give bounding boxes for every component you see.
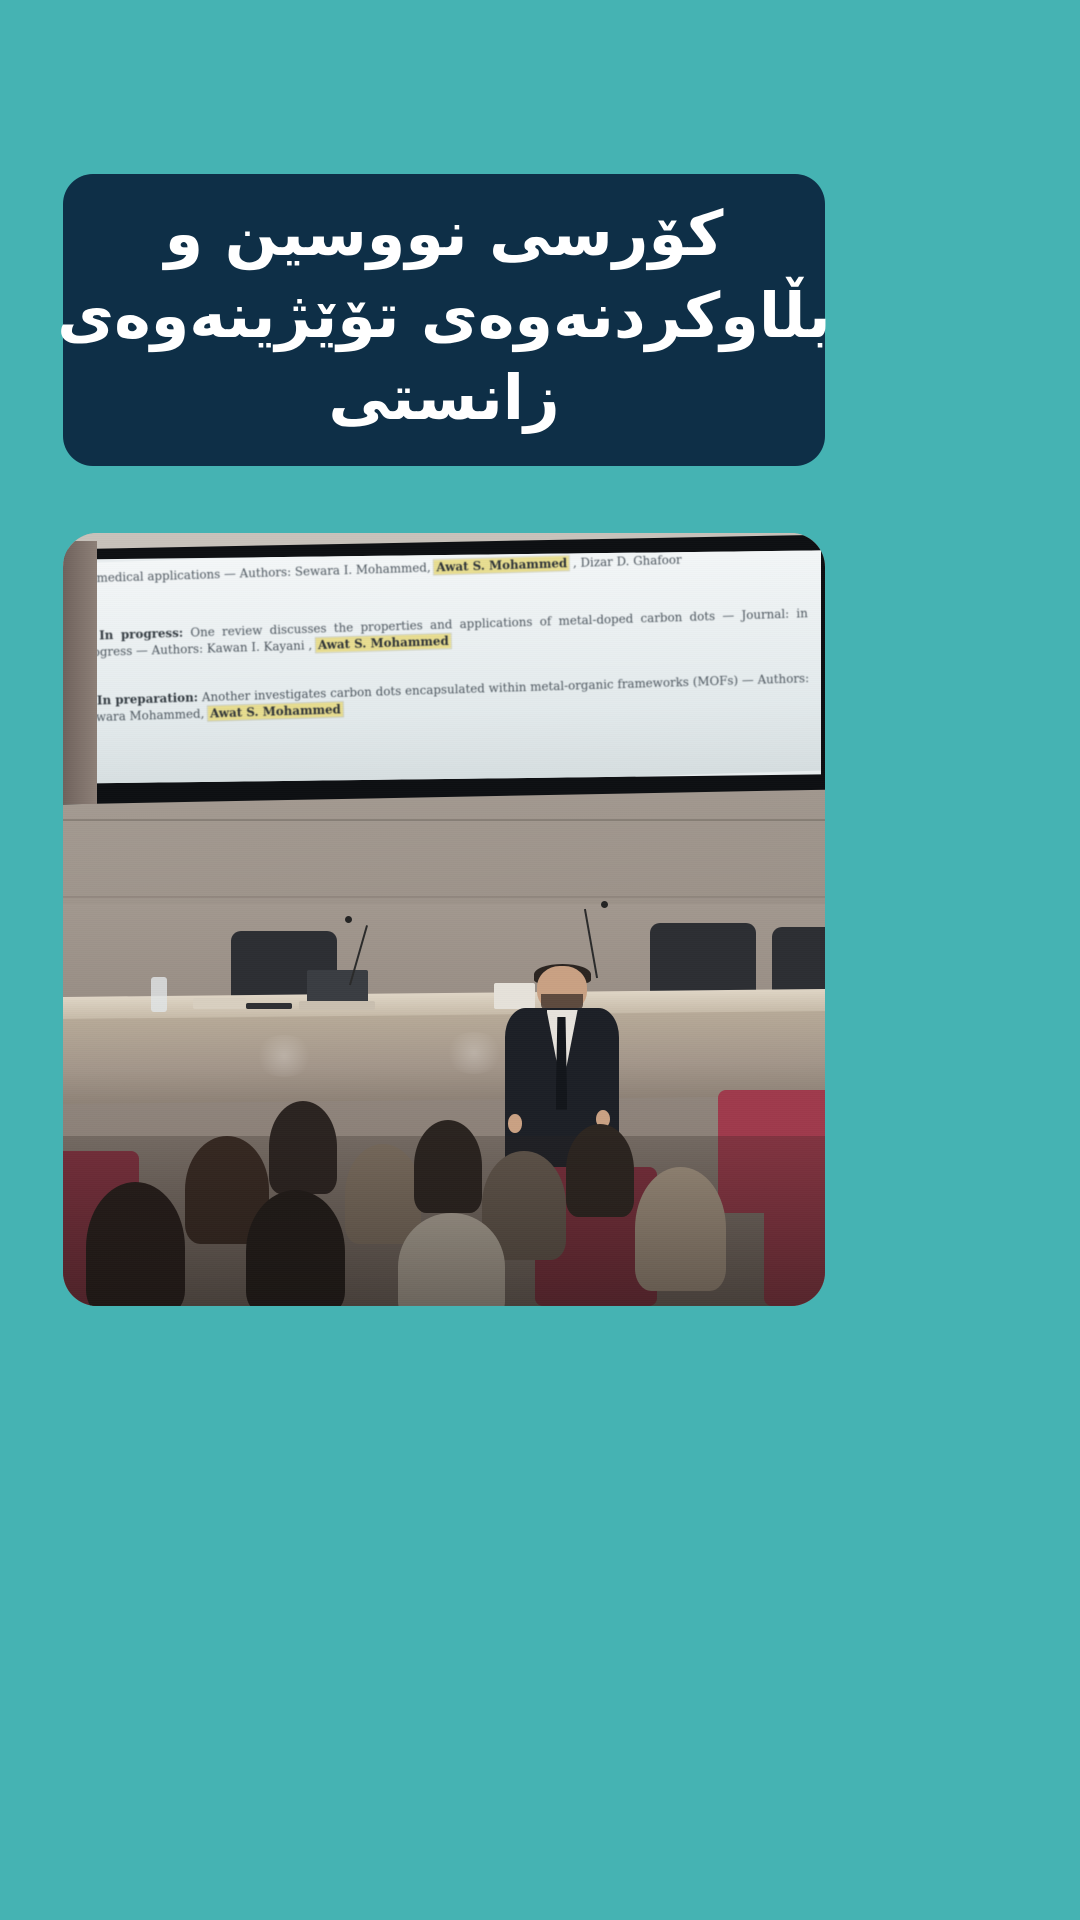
slide-p1-author-1: Sewara I. Mohammed,	[294, 560, 430, 579]
presentation-slide: biomedical applications — Authors: Sewar…	[63, 550, 820, 784]
presenter-hand-left	[508, 1114, 522, 1133]
wall-panel-line-2	[63, 896, 825, 898]
slide-p2-highlighted-author: Awat S. Mohammed	[315, 634, 450, 653]
title-line-1: کۆرسی نووسین و	[165, 193, 724, 275]
panel-chair-2	[650, 923, 757, 996]
water-bottle	[151, 977, 168, 1012]
slide-p1-author-3: , Dizar D. Ghafoor	[572, 552, 681, 570]
screen-left-pillar	[63, 541, 97, 804]
title-card: کۆرسی نووسین و بڵاوکردنەوەی تۆێژینەوەی ز…	[63, 174, 825, 466]
slide-paragraph-1: biomedical applications — Authors: Sewar…	[78, 550, 807, 586]
desk-emblem-1	[254, 1035, 314, 1077]
laptop-base	[299, 1001, 375, 1010]
remote-control	[246, 1003, 292, 1009]
photo-scene: biomedical applications — Authors: Sewar…	[63, 533, 825, 1306]
slide-p1-authors-label: Authors:	[239, 564, 291, 580]
slide-p3-highlighted-author: Awat S. Mohammed	[208, 702, 343, 721]
panel-chair-3	[772, 927, 825, 997]
presenter-tie	[556, 1017, 568, 1110]
projection-screen-frame: biomedical applications — Authors: Sewar…	[63, 535, 825, 805]
desk-emblem-2	[444, 1032, 504, 1074]
lecture-photo: biomedical applications — Authors: Sewar…	[63, 533, 825, 1306]
title-line-3: زانستی	[328, 357, 559, 439]
title-line-2: بڵاوکردنەوەی تۆێژینەوەی	[57, 275, 830, 357]
slide-p3-number: 6. In preparation:	[80, 690, 198, 708]
poster-canvas: کۆرسی نووسین و بڵاوکردنەوەی تۆێژینەوەی ز…	[0, 0, 1080, 1920]
slide-paragraph-3: 6. In preparation: Another investigates …	[80, 670, 809, 727]
laptop	[307, 970, 368, 1005]
slide-p1-highlighted-author: Awat S. Mohammed	[434, 556, 569, 575]
wall-panel-line-1	[63, 819, 825, 821]
papers-stack	[193, 998, 246, 1009]
microphone-head-2	[601, 901, 608, 908]
projection-screen-face: biomedical applications — Authors: Sewar…	[63, 550, 820, 784]
foreground-shadow	[63, 1136, 825, 1306]
slide-p1-prefix: biomedical applications —	[78, 566, 236, 585]
slide-paragraph-2: 5. In progress: One review discusses the…	[79, 605, 808, 662]
